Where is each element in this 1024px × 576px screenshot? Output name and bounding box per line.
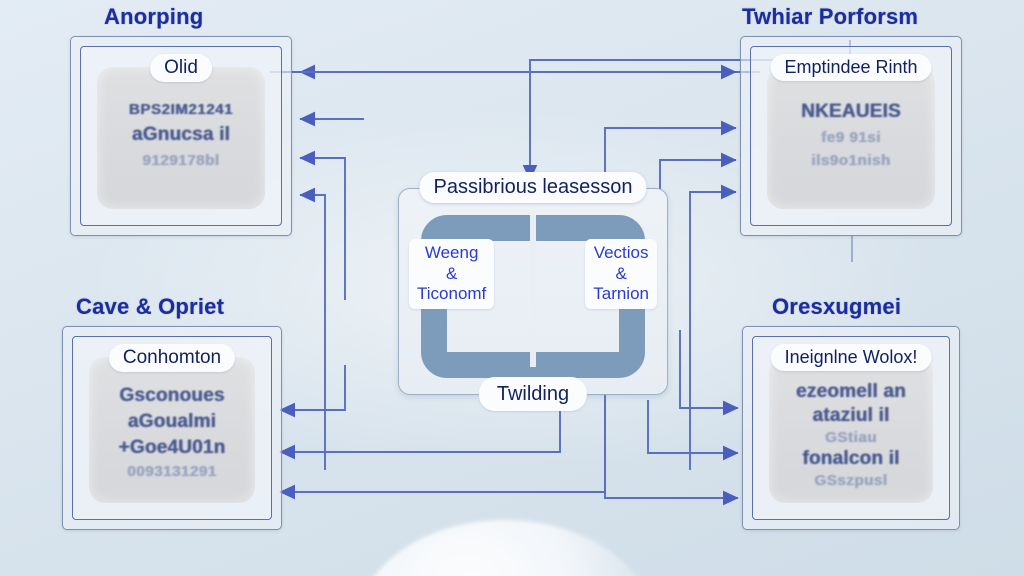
wire-br-to-tl bbox=[300, 195, 325, 470]
group-title-bottom-left: Cave & Opriet bbox=[76, 294, 224, 320]
card-lines-bottom-right: ezeomell an ataziul il GStiau fonalcon i… bbox=[769, 381, 933, 489]
card-lines-top-right: NKEAUEIS fe9 91si ils9o1nish bbox=[767, 101, 935, 169]
card-lines-bottom-left: Gsconoues aGoualmi +Goe4U01n 0093131291 bbox=[89, 385, 255, 480]
panel-top-right[interactable]: Emptindee Rinth NKEAUEIS fe9 91si ils9o1… bbox=[740, 36, 962, 236]
hub-chip-right[interactable]: Vectios & Tarnion bbox=[585, 239, 657, 309]
card-lines-top-left: BPS2IM21241 aGnucsa il 9129178bl bbox=[97, 101, 265, 169]
hub-panel[interactable]: Passibrious leasesson Weeng & Ticonomf V… bbox=[398, 188, 668, 395]
panel-inner-bottom-right: Ineignlne Wolox! ezeomell an ataziul il … bbox=[752, 336, 950, 520]
diagram-canvas: Anorping Olid BPS2IM21241 aGnucsa il 912… bbox=[0, 0, 1024, 576]
hub-chip-bottom[interactable]: Twilding bbox=[479, 377, 587, 411]
card-line: aGnucsa il bbox=[132, 124, 230, 146]
card-bottom-left[interactable]: Conhomton Gsconoues aGoualmi +Goe4U01n 0… bbox=[89, 357, 255, 503]
card-line: ataziul il bbox=[813, 405, 890, 427]
card-line: fe9 91si bbox=[821, 129, 881, 146]
panel-inner-bottom-left: Conhomton Gsconoues aGoualmi +Goe4U01n 0… bbox=[72, 336, 272, 520]
group-title-top-right: Twhiar Porforsm bbox=[742, 4, 918, 30]
wire-hub-to-tl-a bbox=[300, 119, 363, 120]
card-line: fonalcon il bbox=[802, 448, 899, 470]
wire-hub-to-br-b bbox=[648, 400, 738, 453]
card-title-bottom-left: Conhomton bbox=[109, 344, 235, 372]
card-bottom-right[interactable]: Ineignlne Wolox! ezeomell an ataziul il … bbox=[769, 357, 933, 503]
card-line: 9129178bl bbox=[142, 152, 219, 169]
card-line: +Goe4U01n bbox=[119, 437, 226, 459]
panel-top-left[interactable]: Olid BPS2IM21241 aGnucsa il 9129178bl bbox=[70, 36, 292, 236]
card-line: GStiau bbox=[825, 429, 877, 446]
card-line: Gsconoues bbox=[119, 385, 224, 407]
card-line: aGoualmi bbox=[128, 411, 216, 433]
panel-inner-top-left: Olid BPS2IM21241 aGnucsa il 9129178bl bbox=[80, 46, 282, 226]
panel-bottom-right[interactable]: Ineignlne Wolox! ezeomell an ataziul il … bbox=[742, 326, 960, 530]
card-line: NKEAUEIS bbox=[801, 101, 901, 123]
panel-inner-top-right: Emptindee Rinth NKEAUEIS fe9 91si ils9o1… bbox=[750, 46, 952, 226]
panel-bottom-left[interactable]: Conhomton Gsconoues aGoualmi +Goe4U01n 0… bbox=[62, 326, 282, 530]
card-line: GSszpusl bbox=[814, 472, 887, 489]
hub-ring-divider bbox=[530, 215, 536, 367]
wire-hub-to-br-a bbox=[680, 330, 738, 408]
background-sphere bbox=[355, 520, 655, 576]
card-line: BPS2IM21241 bbox=[129, 101, 233, 118]
card-title-top-right: Emptindee Rinth bbox=[770, 54, 931, 81]
card-line: ils9o1nish bbox=[811, 152, 890, 169]
card-top-right[interactable]: Emptindee Rinth NKEAUEIS fe9 91si ils9o1… bbox=[767, 67, 935, 209]
wire-bl-to-tl bbox=[300, 158, 345, 300]
hub-title: Passibrious leasesson bbox=[420, 172, 647, 203]
card-top-left[interactable]: Olid BPS2IM21241 aGnucsa il 9129178bl bbox=[97, 67, 265, 209]
wire-br-to-tr bbox=[690, 192, 736, 470]
card-title-bottom-right: Ineignlne Wolox! bbox=[771, 344, 932, 371]
card-line: ezeomell an bbox=[796, 381, 906, 403]
hub-chip-left[interactable]: Weeng & Ticonomf bbox=[409, 239, 494, 309]
group-title-bottom-right: Oresxugmei bbox=[772, 294, 901, 320]
card-line: 0093131291 bbox=[127, 463, 216, 480]
card-title-top-left: Olid bbox=[150, 54, 212, 82]
group-title-top-left: Anorping bbox=[104, 4, 203, 30]
wire-hub-to-bl-a bbox=[280, 365, 345, 410]
wire-hub-to-br-c bbox=[605, 400, 738, 498]
wire-hub-to-tr-b bbox=[660, 160, 736, 320]
